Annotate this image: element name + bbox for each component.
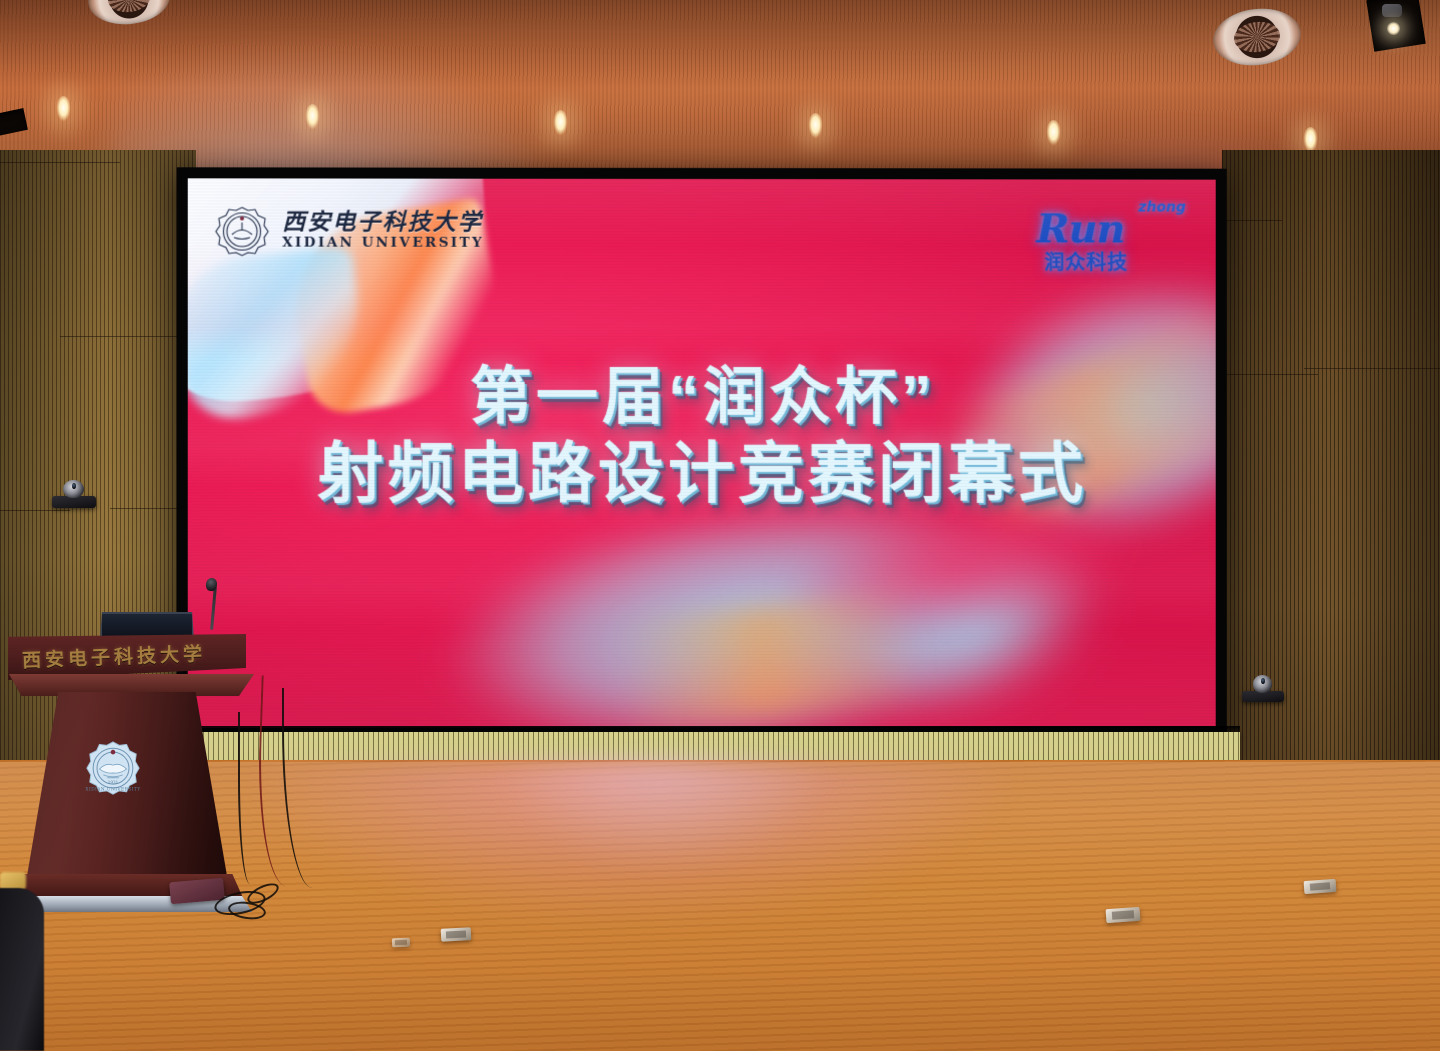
svg-text:1931: 1931 xyxy=(108,780,119,785)
sponsor-name-cn: 润众科技 xyxy=(1044,246,1128,275)
floor-socket-plate xyxy=(1106,907,1141,923)
camera-mount xyxy=(52,496,96,508)
ceiling-air-vent xyxy=(86,0,173,28)
stage-spotlight xyxy=(1382,4,1402,17)
event-title-line-2: 射频电路设计竞赛闭幕式 xyxy=(188,439,1216,509)
camera-head xyxy=(1253,675,1272,693)
panel-seam xyxy=(0,510,70,511)
led-screen-surface: 西安电子科技大学 XIDIAN UNIVERSITY Run zhong 润众科… xyxy=(188,178,1216,727)
cable-junction-box xyxy=(169,878,225,905)
floor-socket-plate xyxy=(441,927,472,942)
floor-socket-plate xyxy=(392,938,410,948)
foreground-silhouette xyxy=(0,888,44,1051)
ceiling-downlight xyxy=(808,113,823,139)
university-name-cn: 西安电子科技大学 xyxy=(282,202,483,236)
ceiling-downlight xyxy=(1046,120,1061,146)
event-title: 第一届“润众杯” 射频电路设计竞赛闭幕式 xyxy=(188,365,1216,509)
ceiling-downlight xyxy=(305,104,320,130)
panel-seam xyxy=(0,162,120,163)
xidian-seal-icon xyxy=(210,204,274,268)
floor-socket-plate xyxy=(1304,879,1337,894)
led-video-wall: 西安电子科技大学 XIDIAN UNIVERSITY Run zhong 润众科… xyxy=(177,167,1227,738)
xidian-seal-icon: 1931 XIDIAN UNIVERSITY xyxy=(82,740,144,802)
university-name-en: XIDIAN UNIVERSITY xyxy=(282,235,484,251)
sponsor-superscript: zhong xyxy=(1138,200,1186,216)
ptz-camera-right xyxy=(1242,675,1284,702)
panel-seam xyxy=(1304,368,1440,369)
ceiling-downlight xyxy=(553,110,568,136)
university-logo: 西安电子科技大学 XIDIAN UNIVERSITY xyxy=(210,198,483,284)
svg-text:XIDIAN UNIVERSITY: XIDIAN UNIVERSITY xyxy=(85,787,140,792)
camera-lens xyxy=(1261,678,1265,684)
event-title-line-1: 第一届“润众杯” xyxy=(188,365,1216,431)
lectern-podium: 西安电子科技大学 1931 XIDIAN UNIVERSITY xyxy=(4,612,256,920)
panel-seam xyxy=(1222,374,1318,375)
ceiling-spotlight-recess xyxy=(0,108,28,138)
panel-seam xyxy=(60,336,180,337)
ceiling-air-vent xyxy=(1210,4,1304,70)
ptz-camera-left xyxy=(52,480,96,508)
camera-head xyxy=(63,480,83,498)
ceiling-downlight xyxy=(56,96,71,122)
camera-lens xyxy=(72,483,76,489)
stage-spotlight-lamp xyxy=(1387,22,1400,35)
panel-seam xyxy=(1222,220,1282,221)
sponsor-logo: Run zhong 润众科技 xyxy=(1036,199,1187,273)
auditorium-stage-scene: 西安电子科技大学 XIDIAN UNIVERSITY Run zhong 润众科… xyxy=(0,0,1440,1051)
